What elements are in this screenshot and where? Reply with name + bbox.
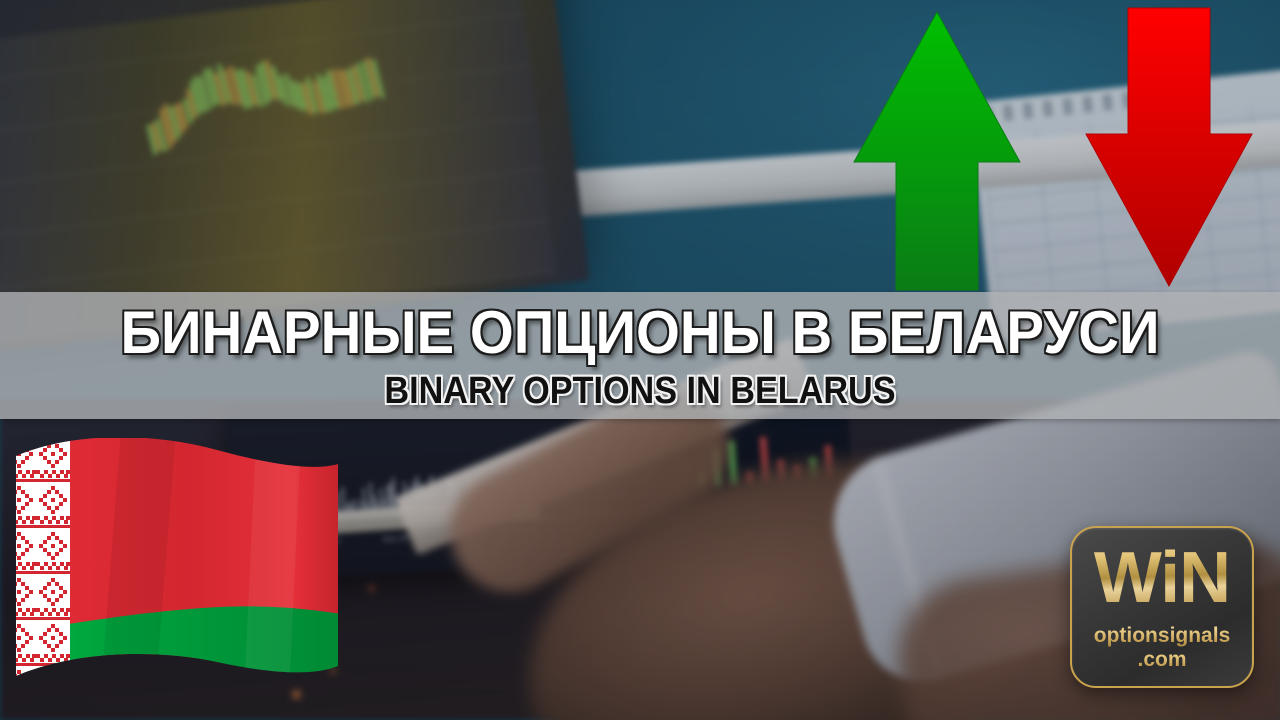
put-down-arrow: [1084, 6, 1254, 288]
brand-logo[interactable]: WiN optionsignals .com: [1070, 526, 1254, 688]
brand-name: WiN: [1072, 540, 1252, 616]
thumbnail-canvas: Sep 17 Oct 07: [0, 0, 1280, 720]
page-subtitle-en: BINARY OPTIONS IN BELARUS: [64, 371, 1216, 411]
brand-site: optionsignals: [1072, 624, 1252, 648]
page-title-ru: БИНАРНЫЕ ОПЦИОНЫ В БЕЛАРУСИ: [38, 302, 1241, 364]
brand-tld: .com: [1072, 648, 1252, 672]
call-up-arrow: [852, 10, 1022, 292]
belarus-flag: [2, 438, 342, 713]
